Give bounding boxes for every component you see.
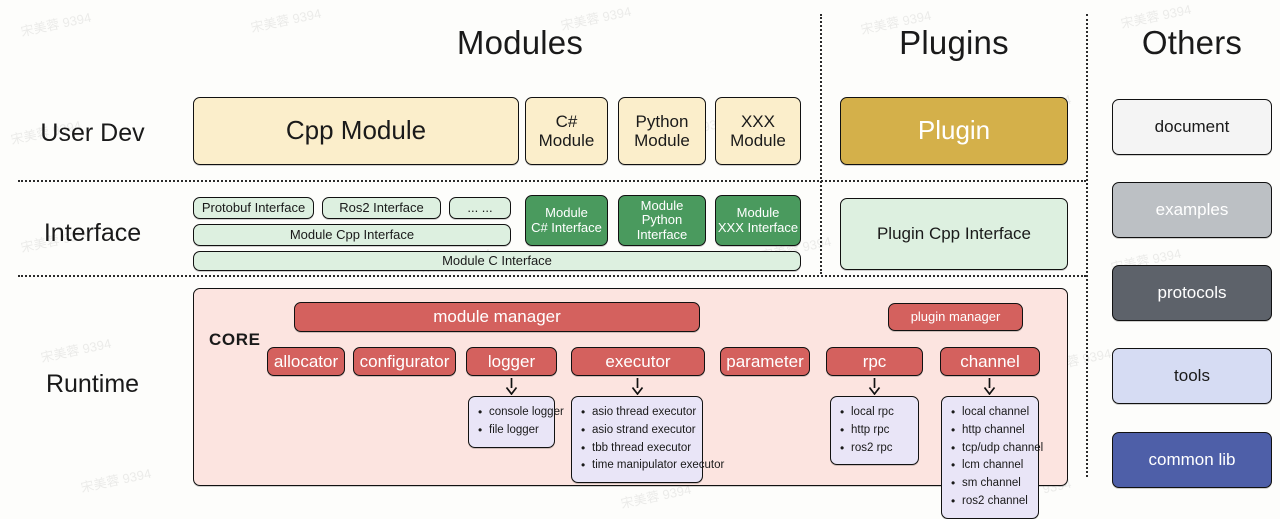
list-item: tbb thread executor (580, 440, 693, 458)
others-protocols[interactable]: protocols (1112, 265, 1272, 321)
interface-module-python[interactable]: Module Python Interface (618, 195, 706, 246)
watermark: 宋美蓉 9394 (39, 333, 113, 366)
interface-more[interactable]: ... ... (449, 197, 511, 219)
interface-module-c[interactable]: Module C Interface (193, 251, 801, 271)
row-separator-interface-runtime (18, 275, 1086, 277)
runtime-allocator[interactable]: allocator (267, 347, 345, 376)
runtime-channel[interactable]: channel (940, 347, 1040, 376)
list-item: sm channel (950, 475, 1029, 493)
user-dev-python-module[interactable]: Python Module (618, 97, 706, 165)
runtime-rpc-impls: local rpchttp rpcros2 rpc (830, 396, 919, 465)
row-label-runtime: Runtime (10, 370, 175, 399)
list-item: local rpc (839, 404, 909, 422)
others-document[interactable]: document (1112, 99, 1272, 155)
list-item: local channel (950, 404, 1029, 422)
list-item: tcp/udp channel (950, 440, 1029, 458)
runtime-executor[interactable]: executor (571, 347, 705, 376)
row-label-interface: Interface (10, 219, 175, 248)
others-tools[interactable]: tools (1112, 348, 1272, 404)
runtime-channel-impls: local channelhttp channeltcp/udp channel… (941, 396, 1039, 519)
arrow-logger-down (505, 378, 518, 395)
watermark: 宋美蓉 9394 (79, 463, 153, 496)
list-item: http channel (950, 422, 1029, 440)
column-separator-plugins-others (1086, 14, 1088, 477)
user-dev-csharp-module[interactable]: C# Module (525, 97, 608, 165)
runtime-rpc[interactable]: rpc (826, 347, 923, 376)
column-header-others: Others (1104, 24, 1280, 62)
list-item: lcm channel (950, 457, 1029, 475)
runtime-module-manager[interactable]: module manager (294, 302, 700, 332)
interface-module-xxx[interactable]: Module XXX Interface (715, 195, 801, 246)
list-item: asio thread executor (580, 404, 693, 422)
column-header-modules: Modules (260, 24, 780, 62)
arrow-channel-down (983, 378, 996, 395)
others-common-lib[interactable]: common lib (1112, 432, 1272, 488)
runtime-executor-impls: asio thread executorasio strand executor… (571, 396, 703, 483)
interface-module-csharp[interactable]: Module C# Interface (525, 195, 608, 246)
runtime-parameter[interactable]: parameter (720, 347, 810, 376)
user-dev-cpp-module[interactable]: Cpp Module (193, 97, 519, 165)
core-label: CORE (209, 330, 261, 350)
list-item: asio strand executor (580, 422, 693, 440)
column-separator-modules-plugins (820, 14, 822, 274)
list-item: time manipulator executor (580, 457, 693, 475)
interface-module-cpp[interactable]: Module Cpp Interface (193, 224, 511, 246)
runtime-plugin-manager[interactable]: plugin manager (888, 303, 1023, 331)
runtime-configurator[interactable]: configurator (353, 347, 456, 376)
runtime-logger[interactable]: logger (466, 347, 557, 376)
list-item: ros2 channel (950, 493, 1029, 511)
runtime-logger-impls: console loggerfile logger (468, 396, 555, 448)
arrow-executor-down (631, 378, 644, 395)
user-dev-xxx-module[interactable]: XXX Module (715, 97, 801, 165)
others-examples[interactable]: examples (1112, 182, 1272, 238)
list-item: http rpc (839, 422, 909, 440)
list-item: file logger (477, 422, 545, 440)
user-dev-plugin[interactable]: Plugin (840, 97, 1068, 165)
row-label-user-dev: User Dev (10, 119, 175, 148)
list-item: ros2 rpc (839, 440, 909, 458)
watermark: 宋美蓉 9394 (19, 7, 93, 40)
interface-plugin-cpp[interactable]: Plugin Cpp Interface (840, 198, 1068, 270)
interface-ros2[interactable]: Ros2 Interface (322, 197, 441, 219)
list-item: console logger (477, 404, 545, 422)
interface-protobuf[interactable]: Protobuf Interface (193, 197, 314, 219)
row-separator-userdev-interface (18, 180, 1086, 182)
column-header-plugins: Plugins (838, 24, 1070, 62)
arrow-rpc-down (868, 378, 881, 395)
